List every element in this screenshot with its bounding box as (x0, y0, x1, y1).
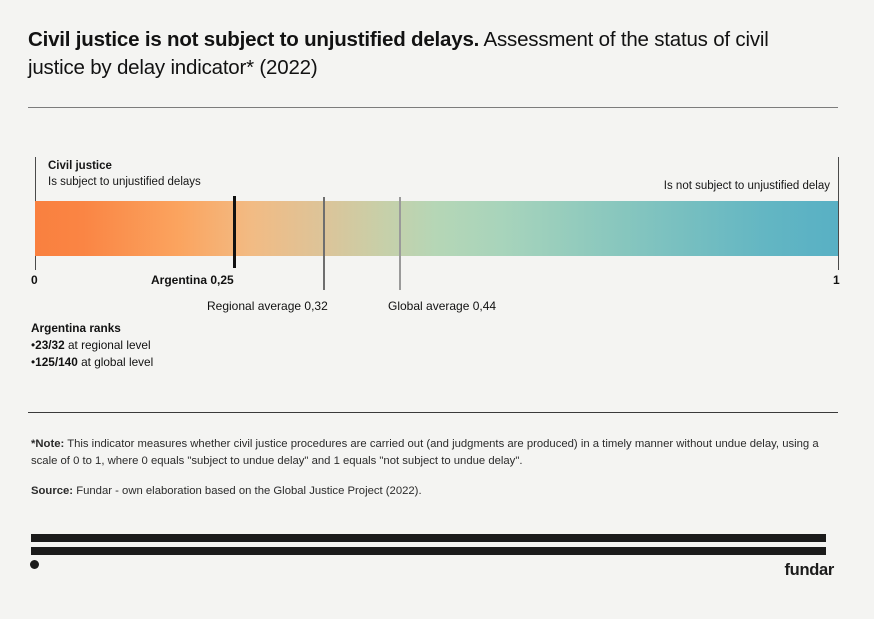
pole-label-left: Civil justice Is subject to unjustified … (48, 158, 201, 190)
pole-label-left-subtitle: Is subject to unjustified delays (48, 174, 201, 190)
footer-rule-bottom (31, 547, 826, 555)
source-text: Fundar - own elaboration based on the Gl… (73, 485, 422, 497)
pole-label-left-title: Civil justice (48, 158, 201, 174)
gradient-scale-chart: Civil justice Is subject to unjustified … (0, 0, 874, 619)
source-block: Source: Fundar - own elaboration based o… (31, 483, 821, 499)
axis-line-right (838, 157, 839, 270)
rank-text-global: at global level (78, 355, 153, 369)
argentina-ranks-item-regional: •23/32 at regional level (31, 337, 153, 354)
marker-line-global-average (399, 197, 401, 290)
page-title-strong: Civil justice is not subject to unjustif… (28, 28, 479, 51)
axis-line-left (35, 157, 36, 270)
axis-tick-min: 0 (31, 273, 38, 287)
argentina-ranks-block: Argentina ranks •23/32 at regional level… (31, 320, 153, 371)
divider-middle (28, 412, 838, 413)
source-label: Source: (31, 485, 73, 497)
note-text: This indicator measures whether civil ju… (31, 438, 819, 467)
argentina-ranks-title: Argentina ranks (31, 320, 153, 337)
footer-dot-icon (30, 560, 39, 569)
rank-value-regional: 23/32 (35, 338, 65, 352)
rank-value-global: 125/140 (35, 355, 78, 369)
gradient-scale-bar (35, 201, 838, 256)
marker-label-argentina: Argentina 0,25 (151, 273, 234, 287)
page-title: Civil justice is not subject to unjustif… (28, 26, 818, 82)
note-label: *Note: (31, 438, 64, 450)
divider-top (28, 107, 838, 108)
marker-label-regional-average: Regional average 0,32 (207, 299, 328, 313)
note-block: *Note: This indicator measures whether c… (31, 436, 821, 469)
chart-page: Civil justice is not subject to unjustif… (0, 0, 874, 619)
rank-text-regional: at regional level (65, 338, 151, 352)
footer-rule-top (31, 534, 826, 542)
argentina-ranks-item-global: •125/140 at global level (31, 354, 153, 371)
axis-tick-max: 1 (833, 273, 840, 287)
marker-line-regional-average (323, 197, 325, 290)
pole-label-right: Is not subject to unjustified delay (664, 178, 830, 194)
fundar-logo: fundar (784, 561, 834, 580)
marker-line-argentina (233, 196, 236, 268)
marker-label-global-average: Global average 0,44 (388, 299, 496, 313)
